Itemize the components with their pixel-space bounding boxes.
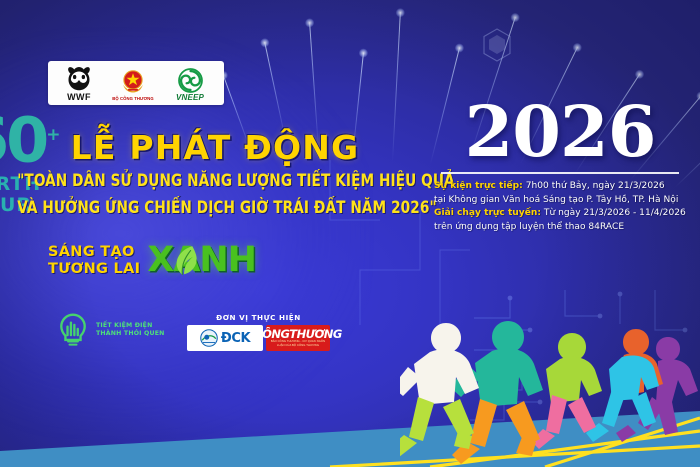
tiet-kiem-dien-logo: TIẾT KIỆM ĐIỆN THÀNH THÓI QUEN — [55, 312, 165, 348]
cong-thuong-sublabel: BÁO CÔNG THƯƠNG - CƠ QUAN NGÔN LUẬN CỦA … — [268, 340, 328, 347]
hex-node-icon — [482, 28, 512, 62]
event-detail-key: Sự kiện trực tiếp: — [434, 181, 523, 191]
wwf-panda-icon — [64, 65, 94, 92]
headline-quote-line-1: "TOÀN DÂN SỬ DỤNG NĂNG LƯỢNG TIẾT KIỆM H… — [17, 169, 413, 192]
slogan-line-1: SÁNG TẠO — [48, 244, 140, 261]
implementing-units-title: ĐƠN VỊ THỰC HIỆN — [186, 313, 331, 322]
headline-quote-line-2: VÀ HƯỞNG ỨNG CHIẾN DỊCH GIỜ TRÁI ĐẤT NĂM… — [17, 196, 413, 219]
year-text: 2026 — [435, 97, 685, 167]
event-detail-value: tại Không gian Văn hoá Sáng tạo P. Tây H… — [434, 195, 678, 205]
slogan-line-2: TƯƠNG LAI — [48, 261, 140, 278]
event-details-block: Sự kiện trực tiếp: 7h00 thứ Bảy, ngày 21… — [434, 180, 696, 234]
moit-logo: BỘ CÔNG THƯƠNG — [108, 64, 158, 102]
vietnam-emblem-icon — [119, 68, 147, 96]
vneep-logo: VNEEP — [166, 64, 214, 102]
slogan-block: SÁNG TẠO TƯƠNG LAI XANH — [48, 243, 256, 278]
wwf-label: WWF — [67, 92, 91, 102]
earth-hour-year: 2026 — [0, 235, 42, 248]
event-detail-line: tại Không gian Văn hoá Sáng tạo P. Tây H… — [434, 194, 696, 208]
light-strand-icon — [264, 42, 286, 140]
headline-main: LỄ PHÁT ĐỘNG — [0, 131, 430, 165]
runners-illustration — [400, 277, 700, 467]
energy-saving-bulb-icon — [55, 312, 91, 348]
event-detail-value: 7h00 thứ Bảy, ngày 21/3/2026 — [523, 181, 665, 191]
event-detail-line: Giải chạy trực tuyến: Từ ngày 21/3/2026 … — [434, 207, 696, 221]
partner-logo-strip: WWF BỘ CÔNG THƯƠNG VNEEP — [48, 61, 224, 105]
tiet-kiem-dien-line-2: THÀNH THÓI QUEN — [96, 330, 165, 338]
dck-label: ĐCK — [221, 331, 250, 346]
dck-mark-icon — [200, 329, 218, 347]
slogan-highlight: XANH — [147, 243, 256, 278]
dck-logo: ĐCK — [187, 325, 263, 351]
implementing-units-block: ĐƠN VỊ THỰC HIỆN ĐCK CÔNGTHƯƠNG BÁO CÔNG… — [186, 313, 331, 351]
vneep-label: VNEEP — [176, 93, 204, 102]
poster-root: 60+ EARTH HOUR ĐẤT 2026 WWF — [0, 0, 700, 467]
vneep-swirl-icon — [177, 67, 204, 93]
slogan-highlight-text: XANH — [147, 240, 256, 280]
event-detail-value: trên ứng dụng tập luyện thể thao 84RACE — [434, 222, 624, 232]
earth-hour-vn-line: ĐẤT — [0, 222, 42, 235]
implementing-units-logos: ĐCK CÔNGTHƯƠNG BÁO CÔNG THƯƠNG - CƠ QUAN… — [186, 325, 331, 351]
wwf-logo: WWF — [58, 64, 100, 102]
cong-thuong-label: CÔNGTHƯƠNG — [254, 328, 342, 340]
cong-thuong-logo: CÔNGTHƯƠNG BÁO CÔNG THƯƠNG - CƠ QUAN NGÔ… — [266, 325, 330, 351]
runner-silhouette — [400, 323, 479, 405]
runner-silhouette — [546, 333, 602, 403]
runner-legs — [531, 395, 596, 449]
slogan-text: SÁNG TẠO TƯƠNG LAI — [48, 244, 140, 278]
event-detail-key: Giải chạy trực tuyến: — [434, 208, 541, 218]
tiet-kiem-dien-text: TIẾT KIỆM ĐIỆN THÀNH THÓI QUEN — [96, 322, 165, 338]
event-detail-value: Từ ngày 21/3/2026 - 11/4/2026 — [541, 208, 686, 218]
tiet-kiem-dien-line-1: TIẾT KIỆM ĐIỆN — [96, 322, 165, 330]
year-block: 2026 — [435, 97, 685, 174]
moit-label: BỘ CÔNG THƯƠNG — [112, 96, 153, 102]
event-detail-line: trên ứng dụng tập luyện thể thao 84RACE — [434, 221, 696, 235]
headline-block: LỄ PHÁT ĐỘNG "TOÀN DÂN SỬ DỤNG NĂNG LƯỢN… — [0, 131, 430, 219]
event-detail-line: Sự kiện trực tiếp: 7h00 thứ Bảy, ngày 21… — [434, 180, 696, 194]
